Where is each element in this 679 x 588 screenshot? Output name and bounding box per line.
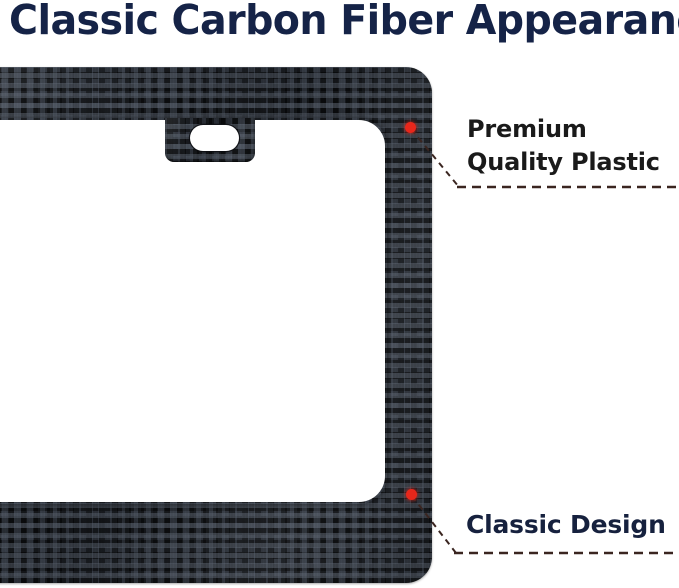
callout-marker-classic-design [406, 489, 417, 500]
license-plate-frame [0, 0, 679, 588]
frame-inner-window [0, 120, 385, 502]
frame-bolt-slot [190, 125, 239, 151]
callout-marker-premium-quality-plastic [405, 122, 416, 133]
callout-classic-design-line1: Classic Design [466, 508, 666, 541]
callout-premium-quality-plastic: Premium Quality Plastic [467, 113, 660, 179]
product-infographic: Classic Carbon Fiber Appearance Premium … [0, 0, 679, 588]
callout-premium-quality-plastic-line2: Quality Plastic [467, 146, 660, 179]
callout-classic-design: Classic Design [466, 508, 666, 541]
callout-premium-quality-plastic-line1: Premium [467, 113, 660, 146]
